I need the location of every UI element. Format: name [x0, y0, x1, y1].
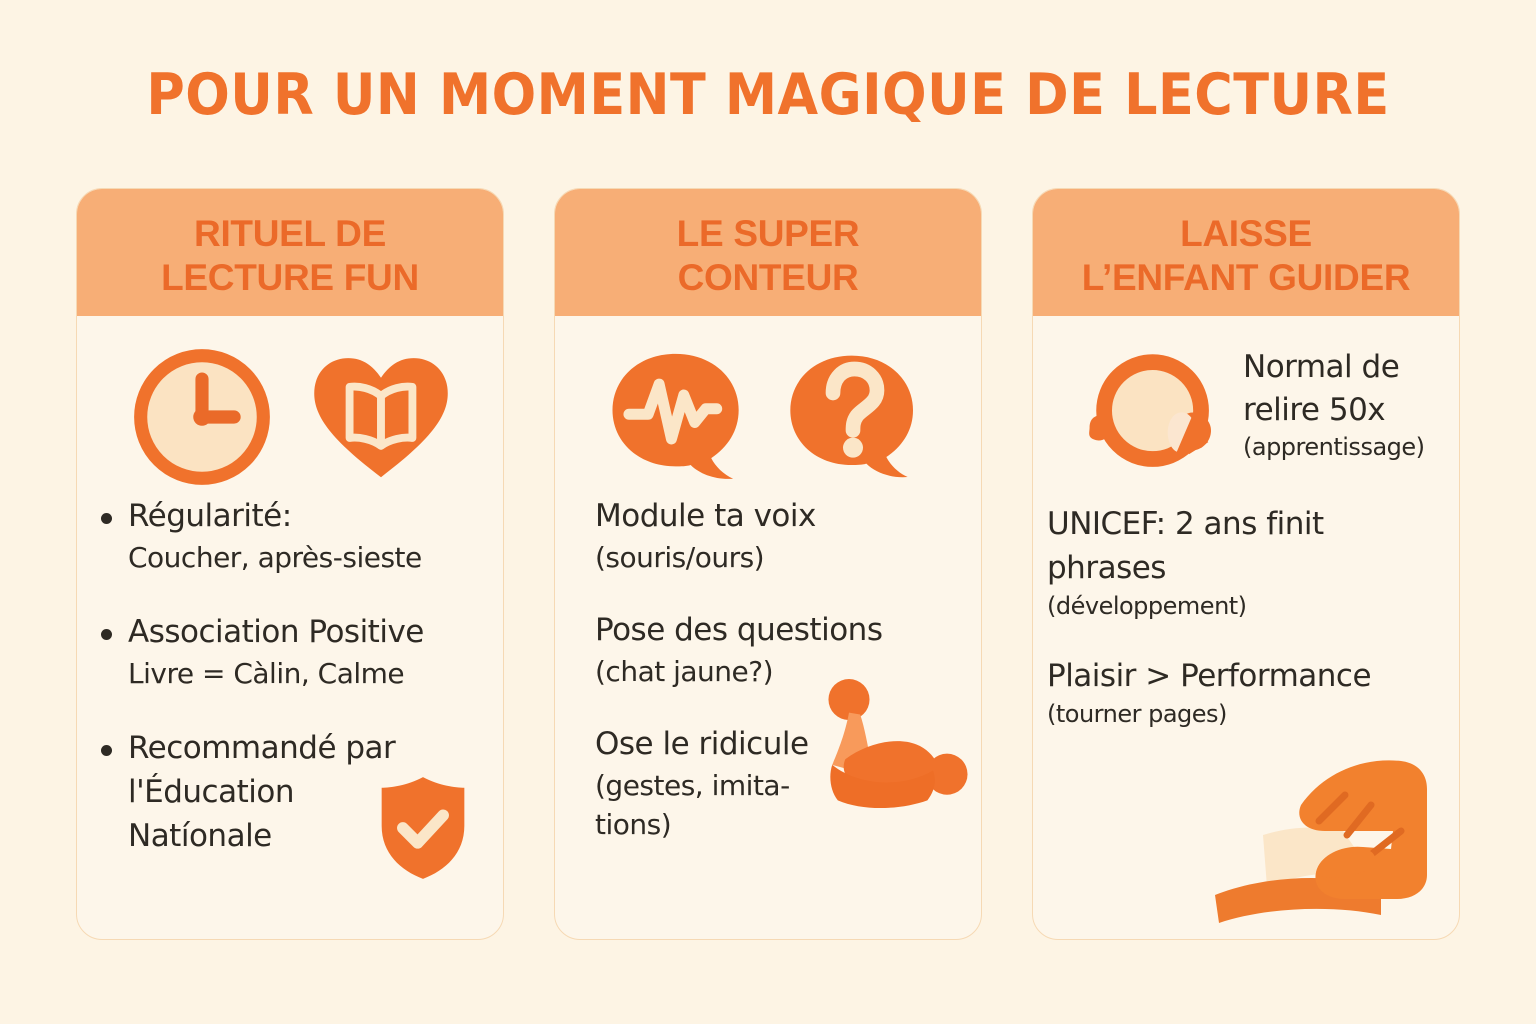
list-item-main: Pose des questions: [595, 608, 959, 652]
list-item-sub: (souris/ours): [595, 538, 959, 578]
card-body: Régularité: Coucher, après-sieste Associ…: [77, 316, 503, 939]
list-item-main: Plaisir > Performance: [1047, 654, 1437, 698]
card-rituel-de-lecture-fun: RITUEL DE LECTURE FUN: [76, 188, 504, 940]
text-block-list: UNICEF: 2 ans finit phrases (développeme…: [1033, 494, 1459, 731]
card-title: RITUEL DE LECTURE FUN: [161, 212, 419, 299]
card-title: LAISSE L’ENFANT GUIDER: [1082, 212, 1411, 299]
icon-row: [77, 316, 503, 494]
list-item-sub: Livre = Càlin, Calme: [128, 654, 424, 694]
icon-row: [555, 316, 981, 494]
jester-hat-icon: [810, 679, 972, 823]
heart-book-icon: [309, 349, 453, 489]
list-item: Plaisir > Performance (tourner pages): [1047, 654, 1437, 732]
speech-bubble-waveform-icon: [607, 347, 751, 491]
repeat-circle-icon: [1081, 350, 1229, 480]
cards-container: RITUEL DE LECTURE FUN: [76, 188, 1460, 940]
list-item-main: Recommandé par l'Éducation Natíonale: [128, 726, 395, 858]
list-item-main: Régularité:: [128, 494, 422, 538]
card-laisse-lenfant-guider: LAISSE L’ENFANT GUIDER Normal de relire …: [1032, 188, 1460, 940]
highlight-main: Normal de relire 50x: [1243, 346, 1425, 432]
icon-row: Normal de relire 50x (apprentissage): [1033, 316, 1459, 494]
shield-check-icon: [374, 775, 472, 885]
list-item-main: Module ta voix: [595, 494, 959, 538]
page-title: POUR UN MOMENT MAGIQUE DE LECTURE: [61, 62, 1474, 128]
list-item-sub: (développement): [1047, 590, 1437, 624]
card-le-super-conteur: LE SUPER CONTEUR: [554, 188, 982, 940]
highlight-sub: (apprentissage): [1243, 432, 1425, 463]
list-item: Module ta voix (souris/ours): [595, 494, 959, 578]
card-body: Normal de relire 50x (apprentissage) UNI…: [1033, 316, 1459, 939]
speech-bubble-question-icon: [785, 347, 925, 491]
bullet-dot-icon: [101, 629, 112, 640]
clock-icon: [129, 344, 275, 494]
list-item: Régularité: Coucher, après-sieste: [101, 494, 479, 578]
bullet-dot-icon: [101, 513, 112, 524]
list-item-sub: Coucher, après-sieste: [128, 538, 422, 578]
card-header: LE SUPER CONTEUR: [555, 189, 981, 316]
list-item: Association Positive Livre = Càlin, Calm…: [101, 610, 479, 694]
card-body: Module ta voix (souris/ours) Pose des qu…: [555, 316, 981, 939]
card-header: RITUEL DE LECTURE FUN: [77, 189, 503, 316]
hand-turning-page-icon: [1205, 727, 1441, 931]
list-item-main: Association Positive: [128, 610, 424, 654]
bullet-dot-icon: [101, 745, 112, 756]
highlight-text: Normal de relire 50x (apprentissage): [1243, 336, 1425, 463]
card-title: LE SUPER CONTEUR: [677, 212, 860, 299]
card-header: LAISSE L’ENFANT GUIDER: [1033, 189, 1459, 316]
list-item: UNICEF: 2 ans finit phrases (développeme…: [1047, 502, 1437, 624]
list-item-main: UNICEF: 2 ans finit phrases: [1047, 502, 1437, 590]
